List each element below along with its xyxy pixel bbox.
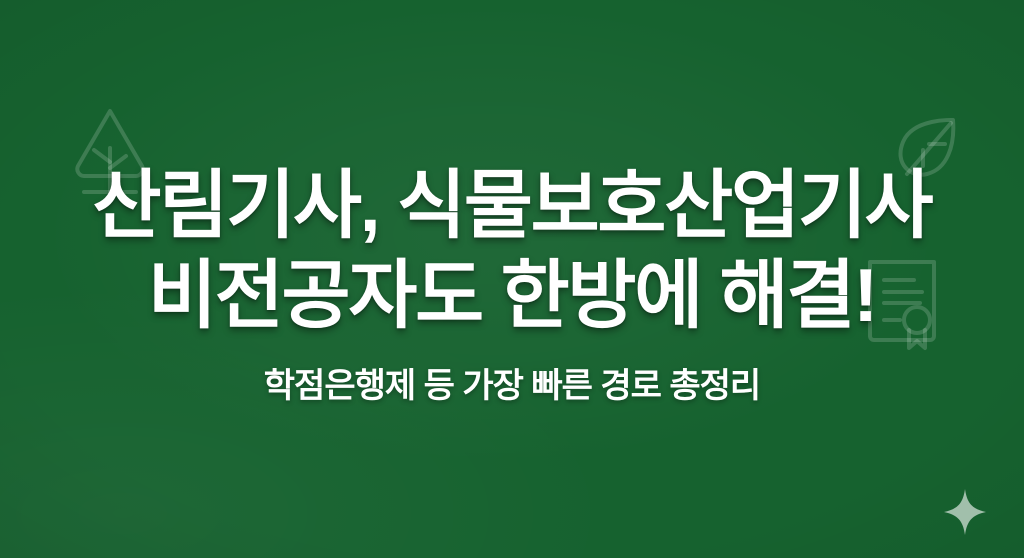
- headline-line-2: 비전공자도 한방에 해결!: [93, 250, 932, 340]
- page-title: 산림기사, 식물보호산업기사 비전공자도 한방에 해결!: [93, 160, 932, 340]
- headline-line-1: 산림기사, 식물보호산업기사: [93, 160, 932, 250]
- subtitle: 학점은행제 등 가장 빠른 경로 총정리: [264, 364, 760, 410]
- banner-content: 산림기사, 식물보호산업기사 비전공자도 한방에 해결! 학점은행제 등 가장 …: [0, 0, 1024, 558]
- promo-banner: 산림기사, 식물보호산업기사 비전공자도 한방에 해결! 학점은행제 등 가장 …: [0, 0, 1024, 558]
